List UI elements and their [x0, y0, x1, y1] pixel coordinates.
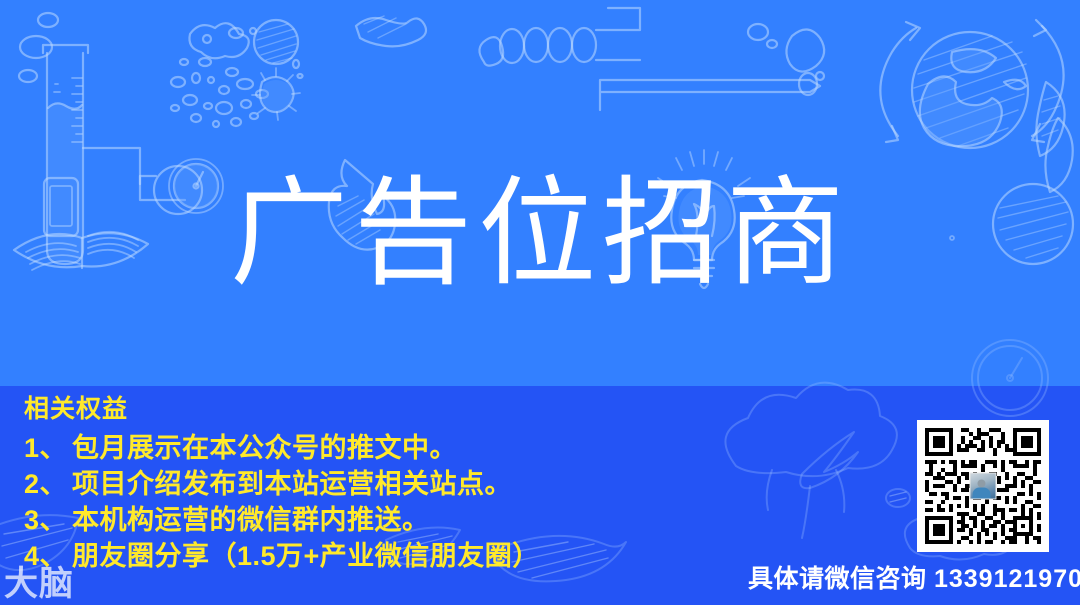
avatar-head: [978, 480, 986, 488]
advertisement-banner: .dl { fill:none; stroke:#bcd8ff; stroke-…: [0, 0, 1080, 605]
avatar-body: [973, 488, 991, 500]
benefit-text-2: 项目介绍发布到本站运营相关站点。: [72, 469, 512, 499]
benefit-item-1: 1、包月展示在本公众号的推文中。: [24, 430, 724, 466]
contact-phone[interactable]: 13391219703: [934, 565, 1080, 593]
benefit-number-3: 3、: [24, 502, 72, 538]
benefit-item-3: 3、本机构运营的微信群内推送。: [24, 502, 724, 538]
benefit-item-2: 2、项目介绍发布到本站运营相关站点。: [24, 466, 724, 502]
benefits-heading: 相关权益: [24, 394, 724, 424]
benefit-text-4: 朋友圈分享（1.5万+产业微信朋友圈）: [72, 541, 540, 571]
page-title: 广告位招商: [0, 175, 1080, 293]
benefit-item-4: 4、朋友圈分享（1.5万+产业微信朋友圈）: [24, 538, 724, 574]
benefit-text-3: 本机构运营的微信群内推送。: [72, 505, 430, 535]
benefit-text-1: 包月展示在本公众号的推文中。: [72, 433, 457, 463]
contact-avatar: [970, 473, 997, 500]
contact-line: 具体请微信咨询 13391219703: [748, 563, 1080, 595]
contact-label: 具体请微信咨询: [748, 565, 927, 593]
benefit-number-2: 2、: [24, 466, 72, 502]
wechat-qr-code[interactable]: [917, 420, 1049, 552]
benefits-section: 相关权益 1、包月展示在本公众号的推文中。 2、项目介绍发布到本站运营相关站点。…: [24, 394, 724, 574]
site-watermark: 大脑: [4, 556, 74, 605]
benefit-number-1: 1、: [24, 430, 72, 466]
